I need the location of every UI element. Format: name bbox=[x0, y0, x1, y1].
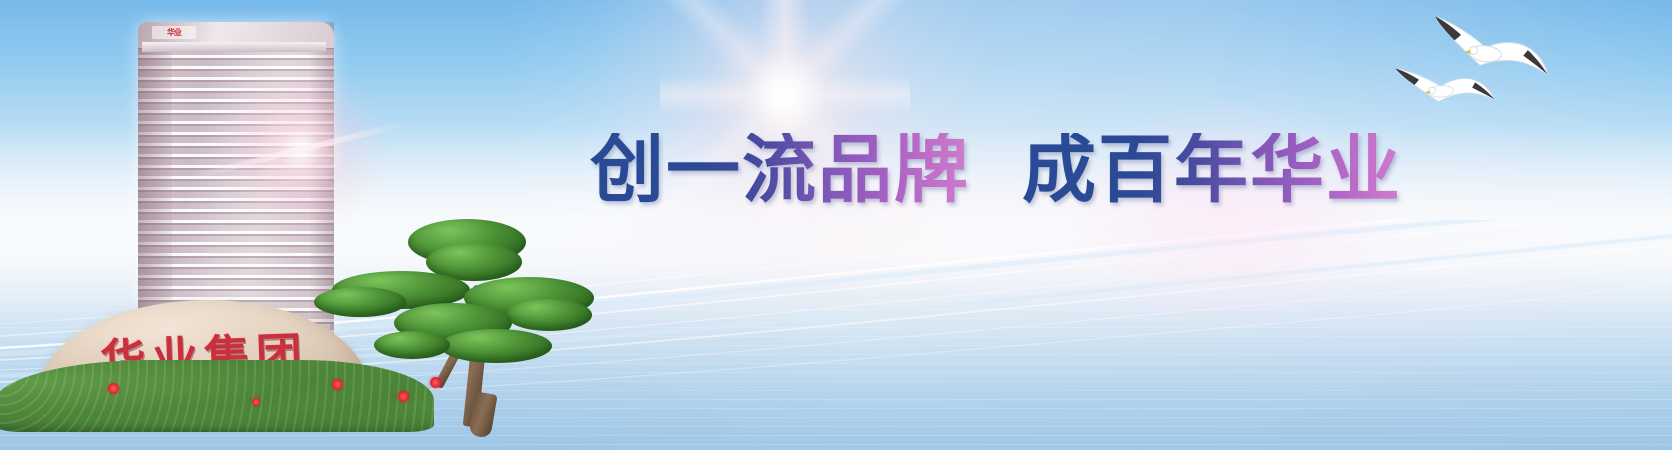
flower-icon bbox=[332, 379, 343, 390]
flower-icon bbox=[108, 383, 119, 394]
seagull-icon bbox=[1390, 55, 1500, 120]
company-hero-banner: 华业 华业集团 创一流品牌 成百年华业 bbox=[0, 0, 1672, 450]
slogan-text: 创一流品牌 成百年华业 bbox=[590, 133, 1402, 207]
flower-icon bbox=[430, 377, 441, 388]
flower-icon bbox=[252, 398, 260, 406]
slogan-phrase-2: 成百年华业 bbox=[1022, 133, 1402, 207]
slogan-phrase-1: 创一流品牌 bbox=[590, 133, 970, 207]
flower-icon bbox=[398, 391, 409, 402]
hedge-row bbox=[0, 360, 434, 432]
rooftop-sign: 华业 bbox=[152, 26, 196, 39]
